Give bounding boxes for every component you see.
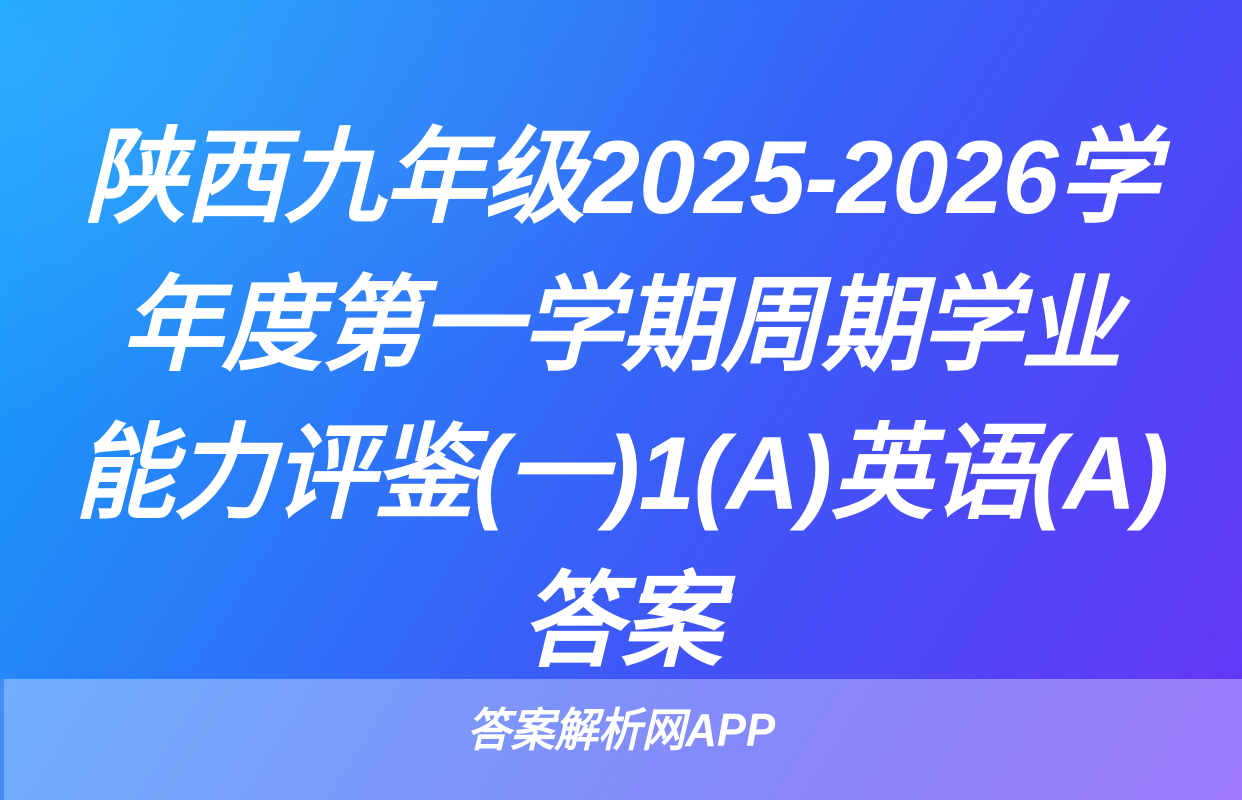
watermark-brand: 答案解析网APP [31,702,1211,758]
title-block: 陕西九年级2025-2026学年度第一学期周期学业能力评鉴(一)1(A)英语(A… [0,0,1242,696]
answer-key-cover-card: 陕西九年级2025-2026学年度第一学期周期学业能力评鉴(一)1(A)英语(A… [0,0,1242,800]
footer-left-edge-accent [0,679,4,800]
page-title: 陕西九年级2025-2026学年度第一学期周期学业能力评鉴(一)1(A)英语(A… [19,104,1224,696]
